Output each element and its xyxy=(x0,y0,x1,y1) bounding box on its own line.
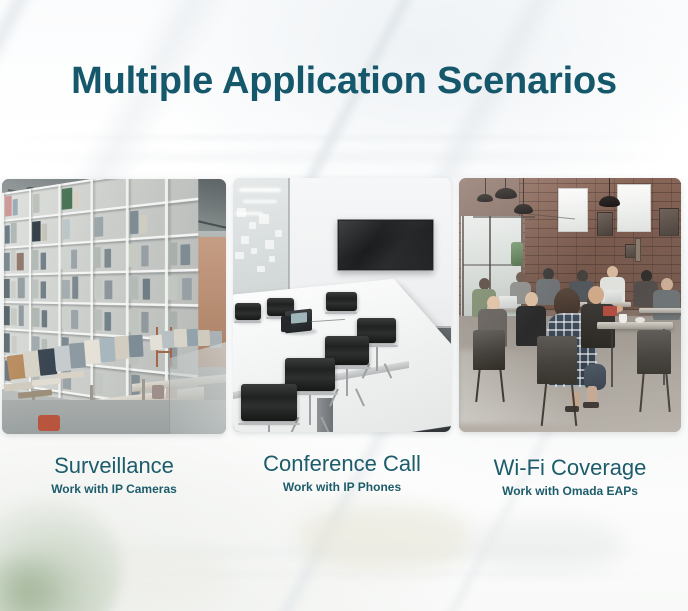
cafe-photo xyxy=(459,178,681,432)
background-blur-shape xyxy=(300,506,470,570)
wall-mounted-tv xyxy=(337,219,434,271)
background-band xyxy=(0,152,688,162)
scenario-title: Wi-Fi Coverage xyxy=(459,454,681,481)
scenario-card-surveillance[interactable] xyxy=(2,179,226,434)
scenario-caption-conference-call: Conference Call Work with IP Phones xyxy=(233,450,451,496)
page-title: Multiple Application Scenarios xyxy=(0,60,688,103)
scenario-card-row xyxy=(0,178,688,436)
conference-room-photo xyxy=(233,178,451,432)
scenario-card-wifi-coverage[interactable] xyxy=(459,178,681,432)
scenario-title: Surveillance xyxy=(2,452,226,479)
scenario-caption-surveillance: Surveillance Work with IP Cameras xyxy=(2,452,226,498)
application-scenarios-banner: Multiple Application Scenarios xyxy=(0,0,688,611)
background-blur-shape xyxy=(470,520,620,570)
scenario-card-conference-call[interactable] xyxy=(233,178,451,432)
background-blur-shape xyxy=(108,548,228,604)
scenario-subtitle: Work with Omada EAPs xyxy=(459,482,681,500)
scenario-caption-wifi-coverage: Wi-Fi Coverage Work with Omada EAPs xyxy=(459,454,681,500)
library-bookstore-photo xyxy=(2,179,226,434)
scenario-subtitle: Work with IP Cameras xyxy=(2,480,226,498)
background-band xyxy=(0,136,688,139)
scenario-title: Conference Call xyxy=(233,450,451,477)
scenario-subtitle: Work with IP Phones xyxy=(233,478,451,496)
